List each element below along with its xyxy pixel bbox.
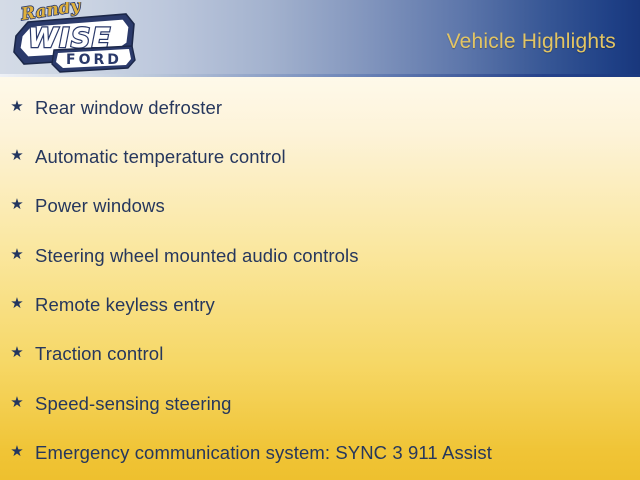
vehicle-highlights-slide: WISE Randy FORD Vehicle Highlights ★ Rea… [0,0,640,480]
list-item: ★ Remote keyless entry [10,292,632,318]
list-item: ★ Rear window defroster [10,95,632,121]
list-item: ★ Automatic temperature control [10,144,632,170]
star-icon: ★ [10,100,24,114]
star-icon: ★ [10,198,24,212]
dealer-logo: WISE Randy FORD [8,2,140,74]
list-item-label: Traction control [35,343,163,365]
list-item-label: Remote keyless entry [35,294,215,316]
star-icon: ★ [10,346,24,360]
list-item-label: Power windows [35,195,165,217]
randy-wise-ford-logo-icon: WISE Randy FORD [8,2,140,74]
list-item: ★ Speed-sensing steering [10,391,632,417]
logo-ford-text: FORD [66,52,122,68]
list-item-label: Automatic temperature control [35,146,286,168]
list-item-label: Emergency communication system: SYNC 3 9… [35,442,492,464]
vehicle-highlights-list: ★ Rear window defroster ★ Automatic temp… [0,74,640,480]
list-item-label: Rear window defroster [35,97,222,119]
header-bar: WISE Randy FORD Vehicle Highlights [0,0,640,74]
star-icon: ★ [10,248,24,262]
list-item: ★ Steering wheel mounted audio controls [10,243,632,269]
list-item-label: Speed-sensing steering [35,393,232,415]
star-icon: ★ [10,396,24,410]
list-item: ★ Emergency communication system: SYNC 3… [10,440,632,466]
list-item: ★ Power windows [10,193,632,219]
star-icon: ★ [10,297,24,311]
star-icon: ★ [10,149,24,163]
list-item-label: Steering wheel mounted audio controls [35,245,359,267]
star-icon: ★ [10,445,24,459]
page-title: Vehicle Highlights [447,30,616,54]
list-item: ★ Traction control [10,341,632,367]
